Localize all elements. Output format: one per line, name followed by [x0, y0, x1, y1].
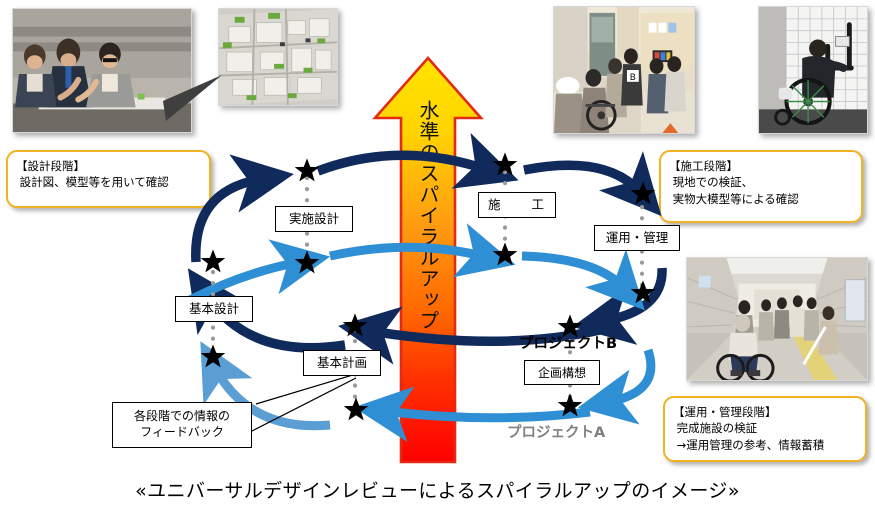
stage-label-kikaku-kousou: 企画構想	[524, 360, 600, 385]
stage-label-kihon-keikaku: 基本計画	[303, 350, 381, 376]
stage-label-kihon-sekkei: 基本設計	[175, 296, 253, 322]
feedback-line-1: 各段階での情報の	[134, 409, 230, 425]
feedback-box: 各段階での情報の フィードバック	[112, 402, 252, 448]
feedback-line-2: フィードバック	[140, 425, 224, 441]
stage-label-jisshi-sekkei: 実施設計	[275, 206, 353, 232]
stage-label-unyou-kanri: 運用・管理	[594, 225, 680, 251]
diagram-canvas: B	[0, 0, 875, 521]
stage-label-sekou: 施 工	[478, 192, 556, 218]
project-b-label: プロジェクトB	[519, 332, 617, 353]
project-a-label: プロジェクトA	[507, 421, 605, 442]
